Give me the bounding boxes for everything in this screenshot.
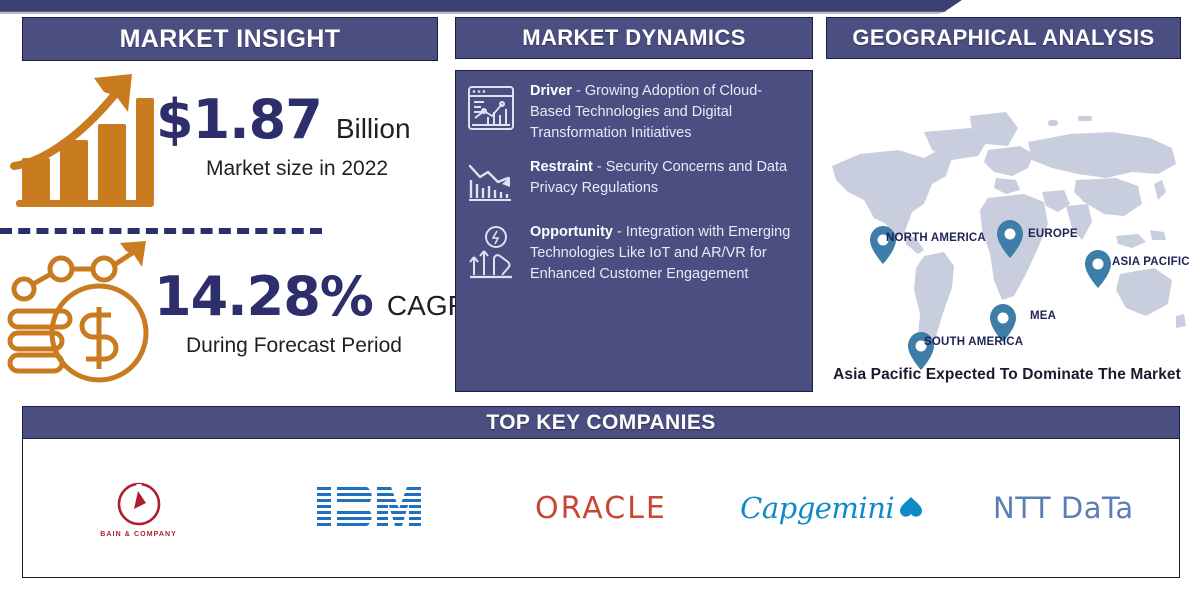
market-size-values: $1.87 Billion Market size in 2022: [156, 93, 411, 181]
dynamics-item-opportunity: Opportunity - Integration with Emerging …: [466, 222, 800, 288]
dynamics-sep-driver: -: [572, 83, 585, 99]
insight-divider: [0, 228, 322, 234]
region-label-mea: MEA: [1030, 310, 1056, 322]
dynamics-label-opportunity: Opportunity: [530, 224, 613, 240]
market-size-block: $1.87 Billion Market size in 2022: [8, 62, 438, 212]
map-pin-asia-pacific: [1085, 250, 1111, 288]
market-size-value: $1.87: [156, 93, 322, 147]
market-size-caption: Market size in 2022: [206, 157, 411, 181]
dynamics-text-opportunity: Opportunity - Integration with Emerging …: [530, 222, 800, 288]
geo-footnote: Asia Pacific Expected To Dominate The Ma…: [823, 366, 1191, 384]
region-label-europe: EUROPE: [1028, 228, 1078, 240]
capgemini-wordmark: Capgemini: [740, 491, 894, 525]
ntt-data-wordmark: NTT DaTa: [993, 491, 1134, 525]
region-label-south-america: SOUTH AMERICA: [924, 336, 1023, 348]
dynamics-label-driver: Driver: [530, 83, 572, 99]
bain-wordmark: BAIN & COMPANY: [100, 531, 177, 538]
ibm-wordmark-icon: [315, 485, 425, 531]
section-header-market-insight: MARKET INSIGHT: [22, 17, 438, 61]
company-logo-ntt-data: NTT DaTa: [948, 439, 1179, 577]
company-logo-capgemini: Capgemini: [717, 439, 948, 577]
section-header-market-dynamics: MARKET DYNAMICS: [455, 17, 813, 59]
company-logo-oracle: ORACLE: [485, 439, 716, 577]
section-header-top-key-companies: TOP KEY COMPANIES: [22, 406, 1180, 439]
coins-growth-icon: [4, 237, 154, 392]
cagr-values: 14.28% CAGR During Forecast Period: [154, 270, 468, 358]
cagr-block: 14.28% CAGR During Forecast Period: [4, 238, 444, 390]
dynamics-label-restraint: Restraint: [530, 159, 593, 175]
companies-logo-row: BAIN & COMPANY: [22, 439, 1180, 578]
dynamics-sep-opportunity: -: [613, 224, 626, 240]
dynamics-item-driver: Driver - Growing Adoption of Cloud-Based…: [466, 81, 800, 144]
region-label-north-america: NORTH AMERICA: [886, 232, 986, 244]
world-map-image: [820, 88, 1188, 378]
market-dynamics-panel: Driver - Growing Adoption of Cloud-Based…: [455, 70, 813, 392]
cagr-caption: During Forecast Period: [186, 334, 468, 358]
dynamics-sep-restraint: -: [593, 159, 606, 175]
region-label-asia-pacific: ASIA PACIFIC: [1112, 256, 1190, 268]
dashboard-chart-icon: [466, 81, 518, 144]
idea-growth-hand-icon: [466, 222, 518, 288]
oracle-wordmark: ORACLE: [535, 491, 667, 526]
geographical-analysis-section: NORTH AMERICA EUROPE ASIA PACIFIC MEA SO…: [820, 66, 1188, 396]
company-logo-bain: BAIN & COMPANY: [23, 439, 254, 577]
declining-bar-chart-icon: [466, 157, 518, 209]
cagr-value: 14.28%: [154, 270, 373, 324]
company-logo-ibm: IBM: [254, 439, 485, 577]
dynamics-text-driver: Driver - Growing Adoption of Cloud-Based…: [530, 81, 800, 144]
bain-circle-icon: [115, 479, 163, 527]
market-size-unit: Billion: [336, 113, 411, 145]
growth-bar-chart-icon: [8, 62, 156, 212]
dynamics-item-restraint: Restraint - Security Concerns and Data P…: [466, 157, 800, 209]
top-banner-strip: [0, 0, 962, 12]
dynamics-text-restraint: Restraint - Security Concerns and Data P…: [530, 157, 800, 209]
capgemini-spade-icon: [898, 495, 924, 521]
section-header-geographical-analysis: GEOGRAPHICAL ANALYSIS: [826, 17, 1181, 59]
top-banner-shadow: [0, 11, 948, 14]
